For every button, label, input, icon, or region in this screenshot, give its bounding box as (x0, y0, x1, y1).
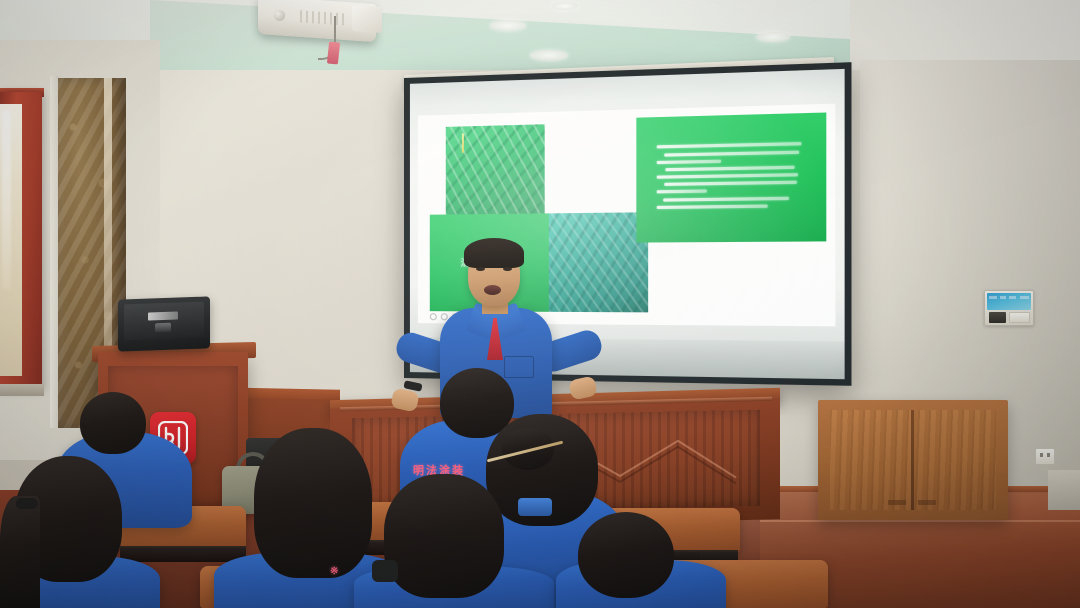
presenter-mouth (484, 285, 501, 295)
monitor-power-button[interactable] (155, 323, 171, 333)
presenter-eye-left (476, 267, 485, 271)
projector-lens (352, 5, 382, 33)
power-outlet-slots (1040, 453, 1050, 457)
projector-indicator (274, 10, 285, 21)
downlight-2 (530, 50, 568, 61)
presenter-chest-pocket (504, 356, 534, 378)
chair-shadow-1 (120, 546, 246, 562)
slide-body-line (657, 204, 768, 209)
projector-tag (327, 41, 340, 64)
downlight-1 (490, 20, 526, 31)
slide-body-line (663, 196, 789, 201)
ac-display-readout (989, 296, 1029, 299)
baseboard (1048, 470, 1080, 510)
slide-body-line (664, 181, 796, 186)
cabinet-handle-right[interactable] (918, 500, 936, 505)
attendee-2-ponytail (0, 496, 40, 608)
slide-body-line (657, 190, 706, 194)
attendee-2-hair-tie (16, 498, 38, 509)
slide-body-line (657, 159, 721, 163)
downlight-3 (756, 32, 790, 42)
presenter-hair (464, 238, 524, 268)
presenter-eye-right (503, 267, 512, 271)
cabinet-handle-left[interactable] (888, 500, 906, 505)
attendee-1-head (80, 392, 146, 454)
slide-body-line (664, 150, 799, 156)
window-glare (2, 110, 11, 290)
slide-body-block (636, 112, 826, 242)
ac-button-light[interactable] (1009, 312, 1030, 323)
monitor-brand-label (148, 311, 178, 320)
attendee-3-jacket-text: ※ (330, 566, 340, 577)
floor-seam (760, 520, 1080, 522)
downlight-5 (552, 2, 578, 10)
ac-button-dark[interactable] (989, 312, 1006, 323)
slide-body-line (666, 166, 795, 172)
slide-body-line (657, 173, 798, 179)
conference-room-photo: 清洁生产审核 (0, 0, 1080, 608)
cabinet-door-split (911, 410, 914, 510)
attendee-5-collar (518, 498, 552, 516)
photo-highlight-streak (462, 133, 464, 153)
attendee-7-head (578, 512, 674, 598)
window-sill (0, 384, 44, 396)
monitor-screen (124, 302, 204, 341)
slide-body-line (657, 142, 801, 148)
attendee-6-head (384, 474, 504, 598)
attendee-3-head (254, 428, 372, 578)
attendee-6-hair-tie (372, 560, 398, 582)
